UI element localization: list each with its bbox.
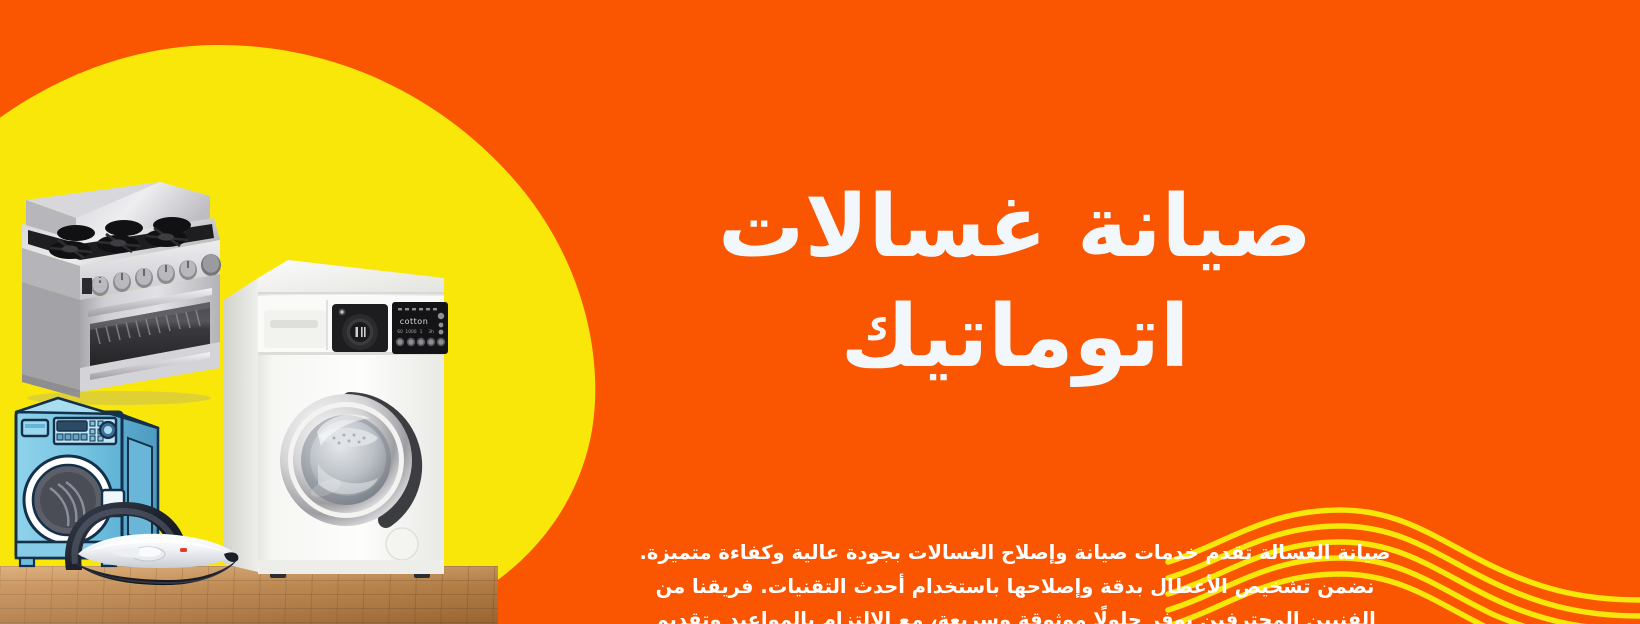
svg-text:1000: 1000 bbox=[405, 329, 416, 335]
promo-banner: cotton 60 1000 1 3h bbox=[0, 0, 1640, 624]
banner-description: صيانة الغسالة تقدم خدمات صيانة وإصلاح ال… bbox=[620, 536, 1410, 624]
svg-text:cotton: cotton bbox=[400, 317, 429, 326]
svg-text:60: 60 bbox=[397, 329, 403, 335]
washing-machine-illustration: cotton 60 1000 1 3h bbox=[222, 252, 454, 582]
banner-text-column: صيانة غسالات اتوماتيك صيانة الغسالة تقدم… bbox=[620, 0, 1410, 624]
headline-line-2: اتوماتيك bbox=[620, 282, 1410, 392]
svg-text:3h: 3h bbox=[428, 329, 434, 335]
clothes-iron-illustration bbox=[52, 492, 242, 587]
gas-stove-illustration bbox=[14, 178, 240, 406]
headline-line-1: صيانة غسالات bbox=[718, 177, 1312, 277]
svg-text:1: 1 bbox=[420, 329, 423, 335]
appliance-stage: cotton 60 1000 1 3h bbox=[0, 0, 620, 624]
page-title: صيانة غسالات اتوماتيك bbox=[620, 62, 1410, 502]
